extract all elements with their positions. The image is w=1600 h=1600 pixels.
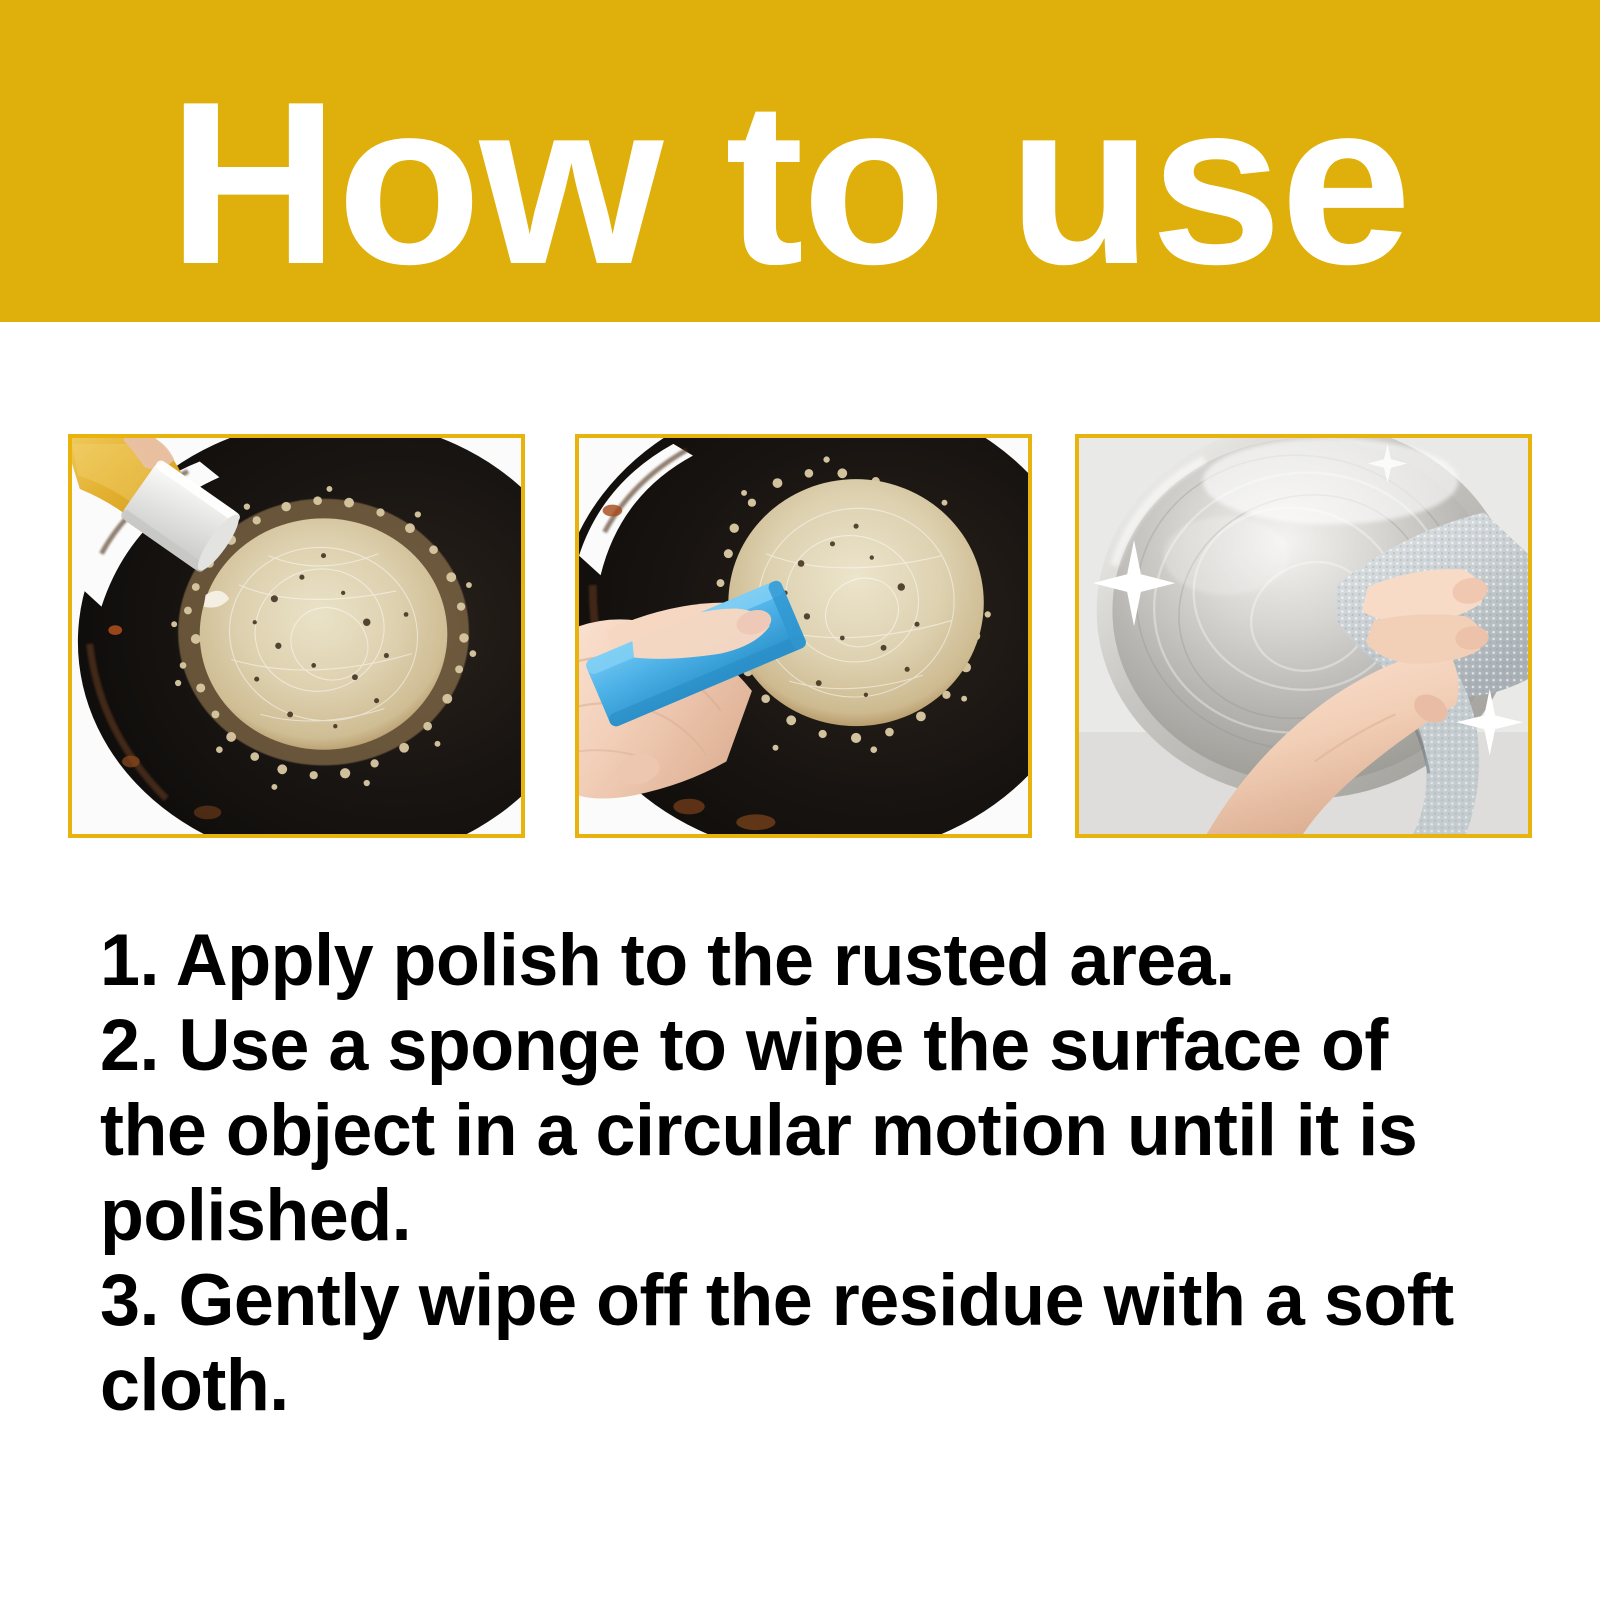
photo-polish-application xyxy=(72,438,521,834)
page-title: How to use xyxy=(168,68,1410,300)
instruction-line-3: the object in a circular motion until it… xyxy=(100,1088,1499,1173)
instruction-line-6: cloth. xyxy=(100,1343,1499,1428)
step-photo-panel-2 xyxy=(575,434,1032,838)
header-banner: How to use xyxy=(0,0,1600,322)
instruction-line-5: 3. Gently wipe off the residue with a so… xyxy=(100,1258,1499,1343)
instruction-line-1: 1. Apply polish to the rusted area. xyxy=(100,918,1499,1003)
instructions-list: 1. Apply polish to the rusted area. 2. U… xyxy=(100,918,1520,1428)
step-photo-panel-1 xyxy=(68,434,525,838)
instruction-line-2: 2. Use a sponge to wipe the surface of xyxy=(100,1003,1499,1088)
photo-sponge-wiping xyxy=(579,438,1028,834)
photo-polished-result xyxy=(1079,438,1528,834)
step-photo-strip xyxy=(0,434,1600,838)
instruction-line-4: polished. xyxy=(100,1173,1499,1258)
step-photo-panel-3 xyxy=(1075,434,1532,838)
